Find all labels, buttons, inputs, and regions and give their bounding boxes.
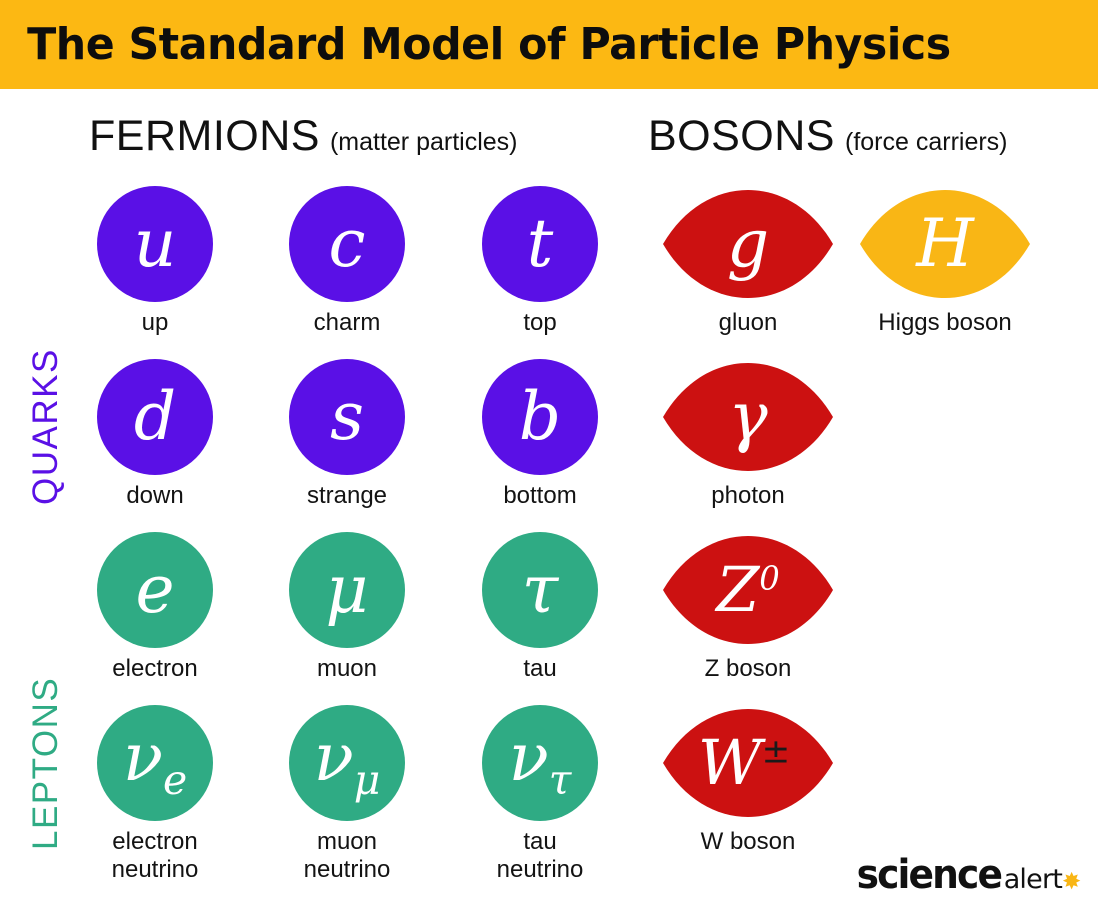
particle-symbol-tau: τ xyxy=(522,557,559,623)
particle-z-boson: Z0 Z boson xyxy=(653,532,843,683)
particle-label-electron-neutrino: electron neutrino xyxy=(60,828,250,885)
particle-label-down: down xyxy=(60,482,250,510)
particle-badge-muon: μ xyxy=(289,532,405,648)
particle-symbol-top: t xyxy=(527,211,554,277)
particle-label-w-boson: W boson xyxy=(653,828,843,856)
particle-tau-neutrino: ντ tau neutrino xyxy=(445,705,635,885)
sciencealert-logo[interactable]: science alert ✸ xyxy=(852,852,1081,898)
particle-label-charm: charm xyxy=(252,309,442,337)
particle-symbol-muon-neutrino: νμ xyxy=(314,725,381,801)
particle-badge-charm: c xyxy=(289,186,405,302)
group-subtitle-fermions: (matter particles) xyxy=(330,128,518,157)
particle-badge-up: u xyxy=(97,186,213,302)
particle-down: d down xyxy=(60,359,250,510)
particle-badge-higgs-boson: H xyxy=(860,186,1030,302)
particle-badge-w-boson: W± xyxy=(663,705,833,821)
particle-label-top: top xyxy=(445,309,635,337)
particle-symbol-w-boson: W± xyxy=(698,732,790,794)
particle-badge-gluon: g xyxy=(663,186,833,302)
particle-label-photon: photon xyxy=(653,482,843,510)
logo-alert-text: alert xyxy=(1004,864,1062,895)
particle-badge-tau: τ xyxy=(482,532,598,648)
particle-label-tau-neutrino: tau neutrino xyxy=(445,828,635,885)
group-title-fermions: FERMIONS xyxy=(89,112,320,161)
particle-w-boson: W± W boson xyxy=(653,705,843,856)
particle-symbol-electron-neutrino: νe xyxy=(123,725,187,801)
particle-electron-neutrino: νe electron neutrino xyxy=(60,705,250,885)
particle-symbol-z-boson: Z0 xyxy=(716,559,780,621)
particle-muon: μ muon xyxy=(252,532,442,683)
particle-label-muon-neutrino: muon neutrino xyxy=(252,828,442,885)
logo-science-text: science xyxy=(857,852,1001,898)
particle-label-bottom: bottom xyxy=(445,482,635,510)
particle-label-muon: muon xyxy=(252,655,442,683)
group-title-bosons: BOSONS xyxy=(648,112,835,161)
particle-badge-electron-neutrino: νe xyxy=(97,705,213,821)
particle-symbol-charm: c xyxy=(329,211,366,277)
particle-badge-strange: s xyxy=(289,359,405,475)
particle-symbol-strange: s xyxy=(330,384,364,450)
group-subtitle-bosons: (force carriers) xyxy=(845,128,1008,157)
particle-strange: s strange xyxy=(252,359,442,510)
particle-symbol-photon: γ xyxy=(728,384,767,450)
particle-muon-neutrino: νμ muon neutrino xyxy=(252,705,442,885)
particle-symbol-higgs-boson: H xyxy=(916,211,974,277)
particle-gluon: g gluon xyxy=(653,186,843,337)
particle-symbol-gluon: g xyxy=(727,211,769,277)
page-title: The Standard Model of Particle Physics xyxy=(0,19,951,70)
particle-symbol-tau-neutrino: ντ xyxy=(509,725,572,801)
particle-badge-muon-neutrino: νμ xyxy=(289,705,405,821)
particle-badge-down: d xyxy=(97,359,213,475)
particle-label-higgs-boson: Higgs boson xyxy=(850,309,1040,337)
particle-up: u up xyxy=(60,186,250,337)
particle-label-tau: tau xyxy=(445,655,635,683)
particle-label-up: up xyxy=(60,309,250,337)
particle-bottom: b bottom xyxy=(445,359,635,510)
particle-badge-top: t xyxy=(482,186,598,302)
particle-label-gluon: gluon xyxy=(653,309,843,337)
particle-badge-photon: γ xyxy=(663,359,833,475)
particle-symbol-electron: e xyxy=(135,557,174,623)
particle-top: t top xyxy=(445,186,635,337)
group-header-fermions: FERMIONS (matter particles) xyxy=(89,112,518,161)
particle-charm: c charm xyxy=(252,186,442,337)
particle-electron: e electron xyxy=(60,532,250,683)
particle-symbol-down: d xyxy=(134,384,176,450)
particle-higgs-boson: H Higgs boson xyxy=(850,186,1040,337)
particle-tau: τ tau xyxy=(445,532,635,683)
particle-label-strange: strange xyxy=(252,482,442,510)
particle-badge-electron: e xyxy=(97,532,213,648)
particle-symbol-up: u xyxy=(134,211,177,277)
particle-label-z-boson: Z boson xyxy=(653,655,843,683)
particle-label-electron: electron xyxy=(60,655,250,683)
particle-badge-bottom: b xyxy=(482,359,598,475)
title-bar: The Standard Model of Particle Physics xyxy=(0,0,1098,89)
group-header-bosons: BOSONS (force carriers) xyxy=(648,112,1008,161)
particle-badge-tau-neutrino: ντ xyxy=(482,705,598,821)
particle-badge-z-boson: Z0 xyxy=(663,532,833,648)
particle-photon: γ photon xyxy=(653,359,843,510)
particle-symbol-bottom: b xyxy=(519,384,561,450)
particle-symbol-muon: μ xyxy=(326,557,369,623)
logo-burst-icon: ✸ xyxy=(1062,871,1081,894)
